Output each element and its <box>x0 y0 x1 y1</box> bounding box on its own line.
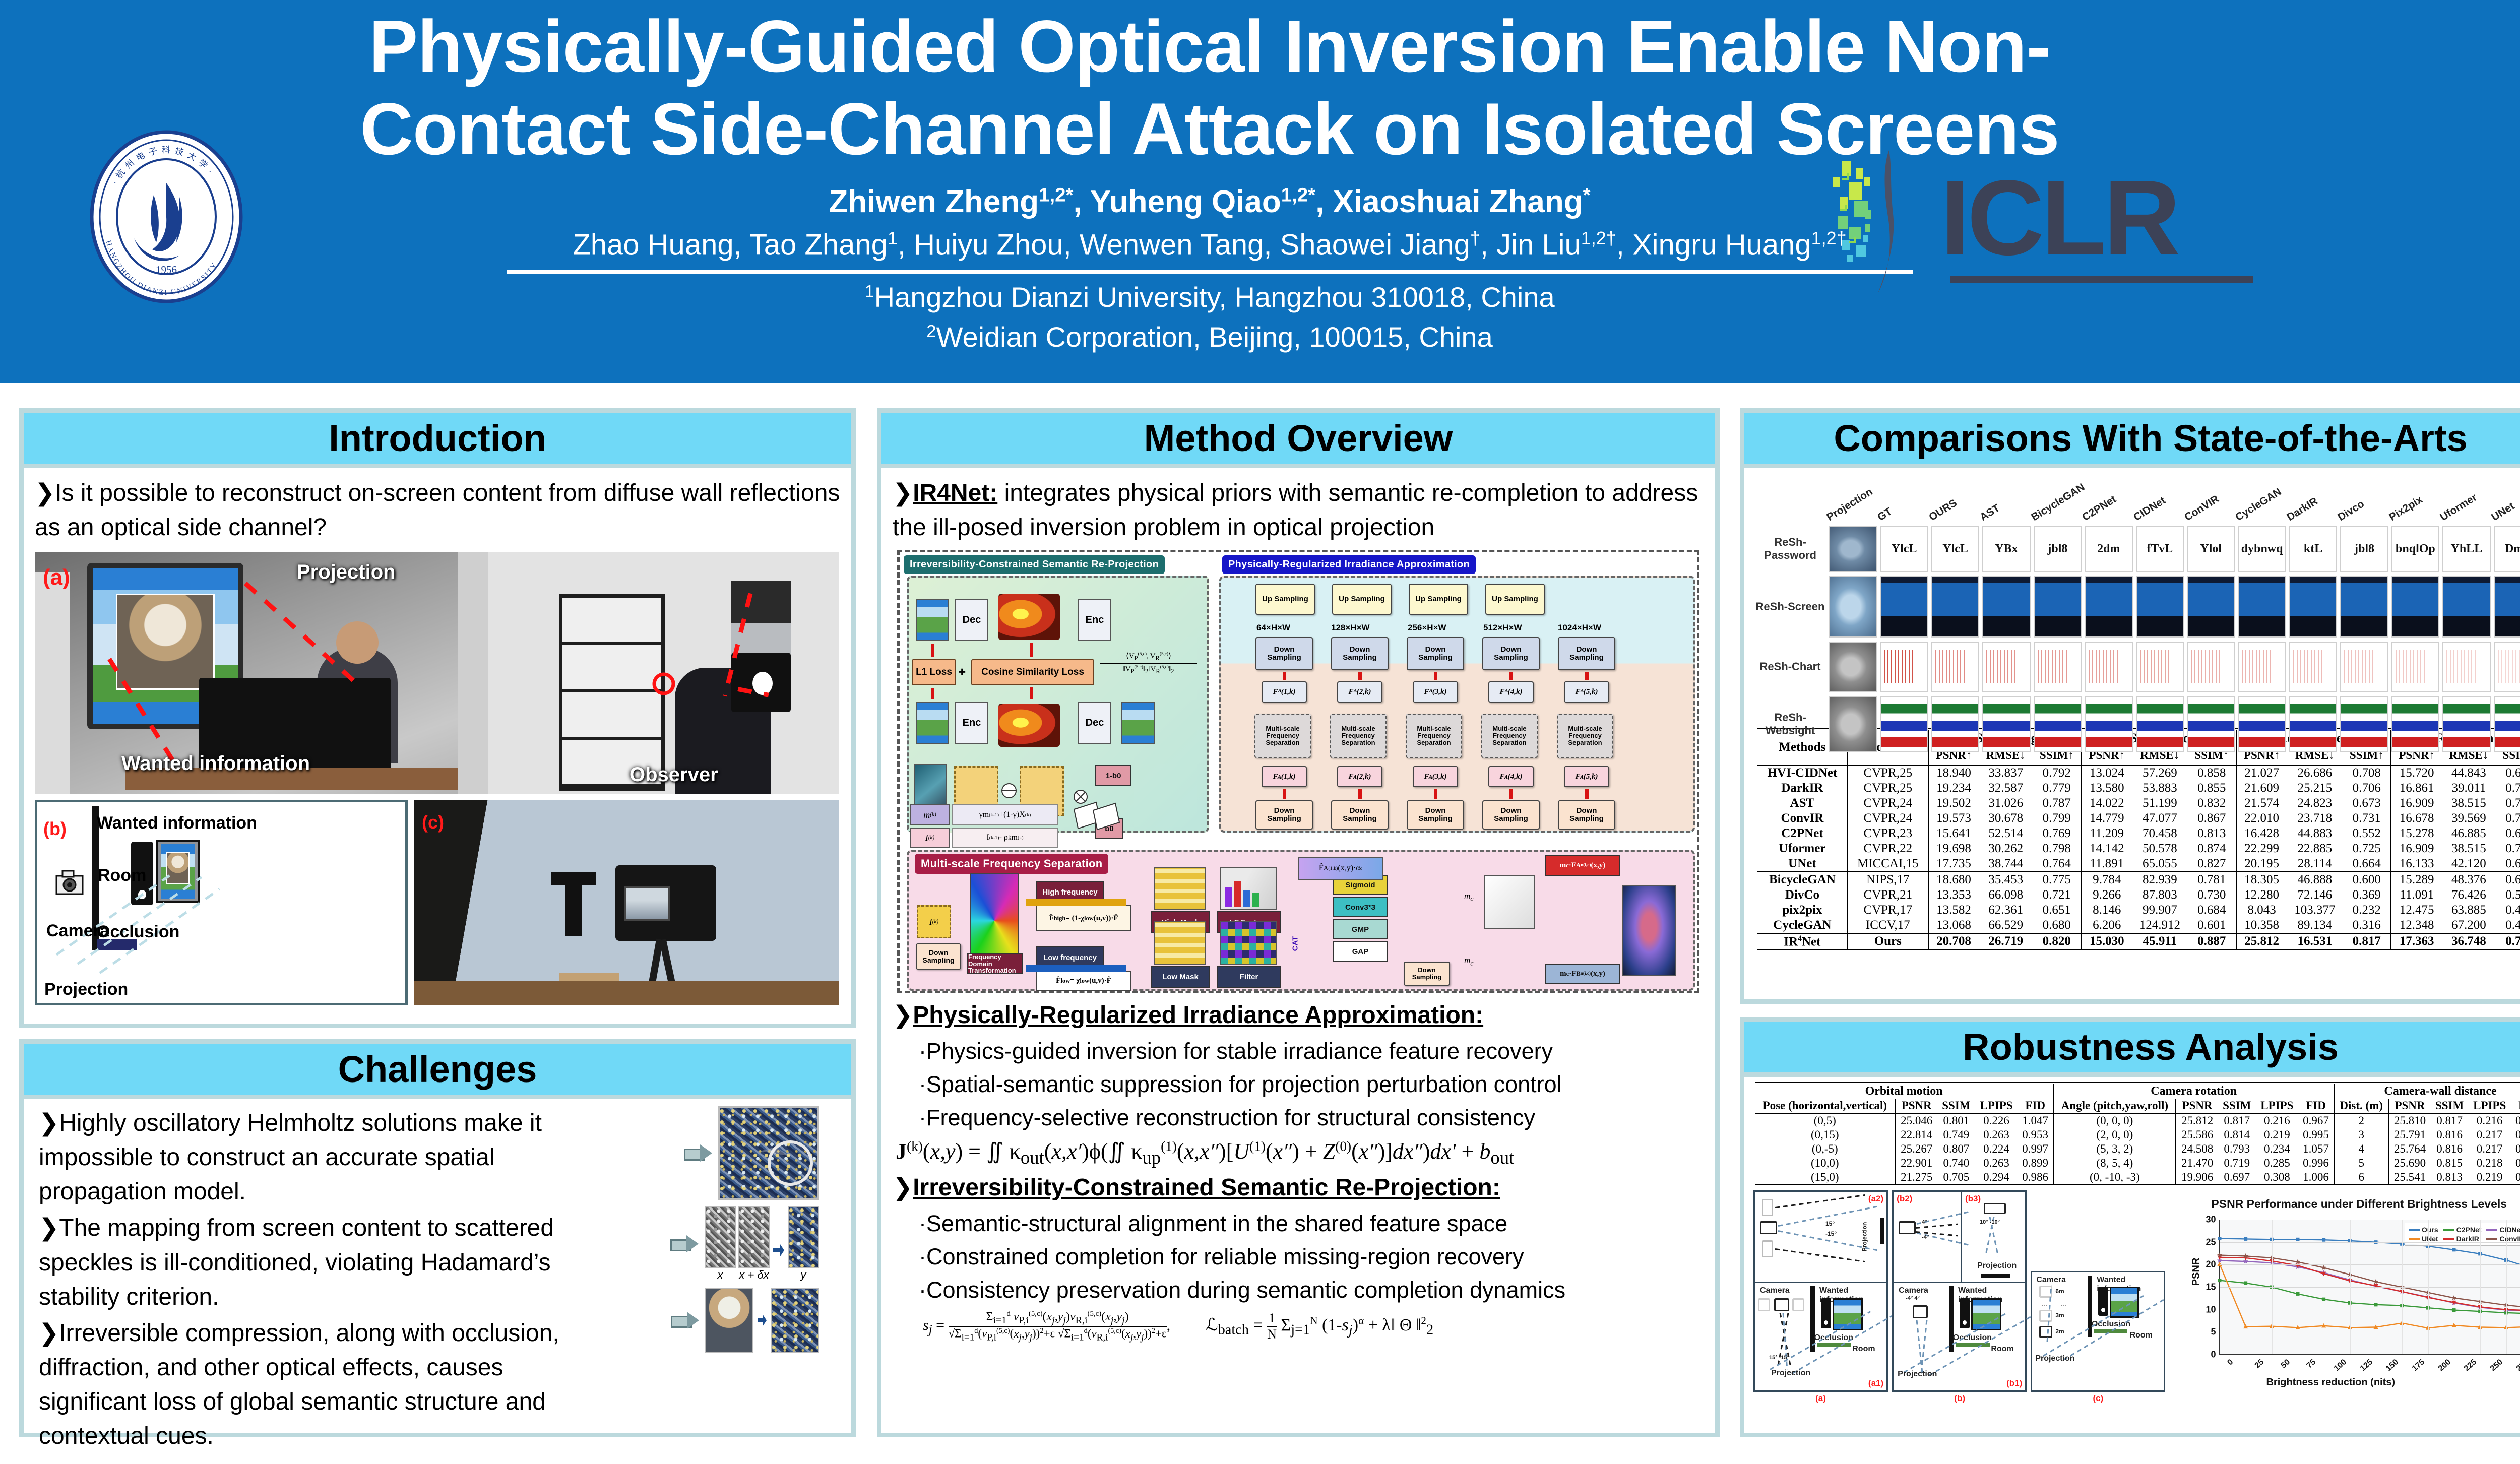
table-cell-value: 8.146 <box>2081 903 2132 918</box>
comparison-cell: YlcL <box>1880 526 1928 572</box>
feature-fa-2: Fᴀ(2,k) <box>1337 766 1382 787</box>
comparison-cell <box>1880 576 1928 638</box>
comparison-col-header: UNet <box>2489 500 2516 524</box>
rob-angle-b2: -4° <box>1922 1234 1929 1240</box>
table-cell: 0.234 <box>2256 1142 2298 1156</box>
comparison-cell <box>1829 696 1877 752</box>
table-cell-value: 15.720 <box>2391 765 2442 781</box>
label-wanted-b: Wanted information <box>97 813 257 833</box>
table-cell-value: 30.262 <box>1979 841 2033 856</box>
table-cell: 0.997 <box>2018 1142 2053 1156</box>
table-cell-value: 0.369 <box>2343 887 2391 903</box>
table-cell-value: 23.718 <box>2287 811 2343 826</box>
msfs-block-1: Multi-scale Frequency Separation <box>1254 714 1311 758</box>
table-cell-value: 0.651 <box>2033 903 2081 918</box>
table-cell-value: 11.891 <box>2081 856 2132 872</box>
table-cell-value: 16.909 <box>2391 796 2442 811</box>
label-occlusion-b: Occlusion <box>97 922 179 942</box>
down-sampling-b5: Down Sampling <box>1558 637 1615 670</box>
challenge-bullet-1: ❯Highly oscillatory Helmholtz solutions … <box>39 1106 579 1209</box>
chart-xtick: 150 <box>2384 1358 2401 1373</box>
chart-legend-item: C2PNet <box>2443 1226 2482 1234</box>
table-cell: 0.705 <box>1937 1170 1975 1185</box>
label-observer-a: Observer <box>629 763 718 786</box>
comparison-cell <box>1829 642 1877 692</box>
rob-subtag-b1: (b1) <box>2006 1378 2022 1388</box>
method-equation-s: sj = Σi=1d vP,i(5,c)(xj,yj)vR,i(5,c)(xj,… <box>923 1310 1170 1344</box>
challenge-caption-xdx: x + δx <box>738 1268 770 1282</box>
page-title: Physically-Guided Optical Inversion Enab… <box>302 5 2117 170</box>
output-heat <box>1622 885 1676 976</box>
gmp-block: GMP <box>1333 919 1388 939</box>
table-cell-value: 11.209 <box>2081 826 2132 841</box>
down-sampling-b4: Down Sampling <box>1482 637 1540 670</box>
table-cell: (0,5) <box>1755 1113 1896 1128</box>
rob-tag-a: (a) <box>1815 1393 1826 1404</box>
loss-cosine: Cosine Similarity Loss <box>971 659 1094 685</box>
table-cell-value: 0.682 <box>2496 856 2520 872</box>
comparison-cell: Ylol <box>2187 526 2235 572</box>
feature-fb-2: Fᴬ(2,k) <box>1337 681 1382 703</box>
table-cell: 25.046 <box>1896 1113 1937 1128</box>
chart-xtick: 50 <box>2279 1358 2292 1370</box>
table-cell: 0.219 <box>2468 1170 2510 1185</box>
table-cell: 0.224 <box>1975 1142 2018 1156</box>
observer-phone-capture <box>731 653 791 712</box>
comparison-col-header: CycleGAN <box>2234 486 2284 524</box>
divider <box>507 270 1913 274</box>
rob-angles-b4: -4° 4° <box>1906 1295 1920 1301</box>
th-rob-group-2: Camera rotation <box>2053 1083 2334 1099</box>
table-cell-value: 0.709 <box>2496 781 2520 796</box>
icsr-output-thumb <box>1121 702 1155 744</box>
figure-panel-b: (b) Wanted information Room Camera Occlu… <box>35 800 408 1005</box>
table-cell-value: 52.514 <box>1979 826 2033 841</box>
table-cell: (0,15) <box>1755 1128 1896 1142</box>
comparison-cell <box>2289 642 2337 692</box>
figure-tag-c: (c) <box>422 812 444 833</box>
loss-plus: + <box>958 664 966 680</box>
dim-3: 256×H×W <box>1408 623 1446 633</box>
arrow-right-icon <box>671 1312 700 1329</box>
table-cell-method: HVI-CIDNet <box>1757 765 1848 781</box>
table-cell-value: 36.748 <box>2442 933 2496 950</box>
chart-gridline-v <box>2220 1220 2220 1354</box>
msfs-block-3: Multi-scale Frequency Separation <box>1406 714 1462 758</box>
comparison-cell <box>2494 642 2520 692</box>
robustness-metric-header: PSNR <box>2388 1099 2430 1113</box>
feature-fa-4: Fᴀ(4,k) <box>1488 766 1534 787</box>
table-cell-value: 32.587 <box>1979 781 2033 796</box>
panel-body-challenges: ❯Highly oscillatory Helmholtz solutions … <box>24 1099 851 1464</box>
table-cell-source: CVPR,17 <box>1848 903 1928 918</box>
robustness-diagram-c: Camera Wanted information 6m ··· ··· 3m … <box>2031 1271 2165 1392</box>
comparison-cell: YlcL <box>1931 526 1979 572</box>
table-cell: (0, -10, -3) <box>2053 1170 2176 1185</box>
panel-body-comparisons: ProjectionGTOURSASTBicycleGANC2PNetCIDNe… <box>1744 468 2520 954</box>
method-lead-bold: IR4Net: <box>913 480 997 506</box>
chart-xtick: 250 <box>2489 1358 2505 1373</box>
table-cell-value: 13.580 <box>2081 781 2132 796</box>
chevron-right-icon: ❯ <box>35 480 55 506</box>
filter-label: Filter <box>1217 966 1281 988</box>
comparison-col-header: Divco <box>2336 498 2367 524</box>
table-cell: 19.906 <box>2176 1170 2218 1185</box>
table-cell-value: 35.453 <box>1979 872 2033 887</box>
panel-header-method: Method Overview <box>881 413 1715 468</box>
table-cell-value: 62.361 <box>1979 903 2033 918</box>
panel-header-robustness: Robustness Analysis <box>1744 1022 2520 1077</box>
table-cell-value: 0.764 <box>2033 856 2081 872</box>
table-cell-value: 0.692 <box>2496 765 2520 781</box>
robustness-metric-header: LPIPS <box>2256 1099 2298 1113</box>
module-label-msfs: Multi-scale Frequency Separation <box>915 854 1108 874</box>
comparison-row-label: ReSh-Screen <box>1753 576 1827 638</box>
table-cell-value: 0.725 <box>2343 841 2391 856</box>
comparison-cell <box>2136 642 2184 692</box>
table-cell: 0.216 <box>2468 1113 2510 1128</box>
iclr-underline <box>1950 276 2253 283</box>
table-cell: 25.541 <box>2388 1170 2430 1185</box>
table-cell-value: 38.744 <box>1979 856 2033 872</box>
table-cell: (8, 5, 4) <box>2053 1156 2176 1170</box>
robustness-diagram-a: (a2) 15° -15° Projection <box>1753 1190 1888 1392</box>
comparison-cell <box>2391 696 2439 752</box>
table-cell: 0.749 <box>1937 1128 1975 1142</box>
down-sampling-o3: Down Sampling <box>1407 800 1464 830</box>
table-cell-value: 70.458 <box>2132 826 2188 841</box>
table-cell-method: IR4Net <box>1757 933 1848 950</box>
table-cell: 0.967 <box>2298 1113 2334 1128</box>
table-cell-value: 13.582 <box>1928 903 1979 918</box>
table-cell-value: 21.609 <box>2236 781 2287 796</box>
table-cell: (0, 0, 0) <box>2053 1113 2176 1128</box>
chart-gridline <box>2220 1287 2520 1288</box>
comparison-cell <box>2442 696 2490 752</box>
rob-dist-3m: 3m <box>2055 1312 2064 1319</box>
feature-fa-5: Fᴀ(5,k) <box>1564 766 1609 787</box>
table-cell: 0.226 <box>1975 1113 2018 1128</box>
chart-xtick: 25 <box>2253 1358 2266 1370</box>
robustness-table-body: (0,5)25.0460.8010.2261.047(0, 0, 0)25.81… <box>1755 1113 2520 1185</box>
th-rob-group-1: Orbital motion <box>1755 1083 2053 1099</box>
chart-xtick: 200 <box>2437 1358 2453 1373</box>
robustness-metric-header: PSNR <box>1896 1099 1937 1113</box>
table-cell-value: 0.721 <box>2033 887 2081 903</box>
method-equation-loss: ℒbatch = 1N Σj=1N (1-sj)α + λ‖ Θ ‖22 <box>1206 1311 1433 1342</box>
challenge-thumb-3 <box>671 1288 819 1353</box>
camera-icon <box>54 867 85 898</box>
comparison-cell <box>1931 696 1979 752</box>
table-cell-value: 46.885 <box>2442 826 2496 841</box>
table-cell-value: 30.678 <box>1979 811 2033 826</box>
table-cell-source: CVPR,23 <box>1848 826 1928 841</box>
chart-legend-item: DarkIR <box>2443 1235 2482 1243</box>
table-cell-value: 50.578 <box>2132 841 2188 856</box>
table-cell: 0.793 <box>2218 1142 2256 1156</box>
logo-year: 1956 <box>156 264 177 276</box>
rob-proj-label-c: Projection <box>2035 1354 2074 1363</box>
fa-alpha-eq: F̂A(1,k)(x,y)·αc <box>1298 857 1383 880</box>
table-cell-value: 39.011 <box>2442 781 2496 796</box>
chart-series-line <box>2220 1264 2520 1328</box>
comparison-cell <box>2136 696 2184 752</box>
legend-label: C2PNet <box>2456 1226 2482 1234</box>
table-cell: 0.980 <box>2511 1156 2520 1170</box>
chart-series-line <box>2220 1255 2520 1308</box>
table-cell-value: 0.664 <box>2343 856 2391 872</box>
table-cell-value: 16.861 <box>2391 781 2442 796</box>
table-cell: 0.815 <box>2431 1156 2469 1170</box>
chart-gridline <box>2220 1310 2520 1310</box>
comparison-col-header: DarkIR <box>2285 495 2320 524</box>
table-cell: 0.219 <box>2256 1128 2298 1142</box>
rob-cam-label-a: Camera <box>1760 1286 1790 1295</box>
legend-swatch <box>2409 1229 2420 1231</box>
conv-block: Conv3*3 <box>1333 897 1388 917</box>
table-cell-value: 57.269 <box>2132 765 2188 781</box>
table-cell: 0.816 <box>2431 1142 2469 1156</box>
table-cell: 0.996 <box>2298 1156 2334 1170</box>
panel-method-overview: Method Overview ❯IR4Net: integrates phys… <box>877 408 1720 1437</box>
label-room-b: Room <box>98 866 146 885</box>
robustness-metric-header: FID <box>2298 1099 2334 1113</box>
table-cell: (15,0) <box>1755 1170 1896 1185</box>
table-cell-value: 87.803 <box>2132 887 2188 903</box>
table-cell-value: 0.817 <box>2343 933 2391 950</box>
table-cell: 25.267 <box>1896 1142 1937 1156</box>
table-cell-value: 0.787 <box>2033 796 2081 811</box>
comparison-column-headers: ProjectionGTOURSASTBicycleGANC2PNetCIDNe… <box>1828 475 2520 524</box>
low-mask-label: Low Mask <box>1151 966 1210 988</box>
legend-label: CIDNet <box>2499 1226 2520 1234</box>
table-cell-value: 103.377 <box>2287 903 2343 918</box>
table-cell-method: C2PNet <box>1757 826 1848 841</box>
chart-gridline-v <box>2298 1220 2298 1354</box>
chart-gridline <box>2220 1242 2520 1243</box>
chart-gridline-v <box>2376 1220 2376 1354</box>
architecture-diagram: Irreversibility-Constrained Semantic Re-… <box>897 550 1699 993</box>
comparison-cell <box>2187 696 2235 752</box>
comparison-table-body: HVI-CIDNetCVPR,2518.94033.8370.79213.024… <box>1757 765 2520 950</box>
rob-proj-label-b2: Projection <box>1898 1370 1937 1379</box>
table-cell-value: 63.885 <box>2442 903 2496 918</box>
arrow-right-icon <box>670 1235 700 1252</box>
comparison-cell <box>2442 576 2490 638</box>
chart-xtick: 75 <box>2305 1358 2318 1370</box>
challenge-bullets: ❯Highly oscillatory Helmholtz solutions … <box>35 1106 579 1456</box>
table-cell-value: 17.363 <box>2391 933 2442 950</box>
table-cell-value: 24.823 <box>2287 796 2343 811</box>
chevron-right-icon: ❯ <box>39 1320 59 1347</box>
comparison-row-label: ReSh-Chart <box>1753 642 1827 692</box>
challenge-bullet-3: ❯Irreversible compression, along with oc… <box>39 1316 579 1454</box>
feature-fa-1: Fᴀ(1,k) <box>1262 766 1307 787</box>
rob-angles-b3: 10° -10° <box>1980 1219 2000 1225</box>
mc-sym-2: mc <box>1464 956 1474 968</box>
robustness-key-header: Angle (pitch,yaw,roll) <box>2053 1099 2176 1113</box>
table-cell: 25.764 <box>2388 1142 2430 1156</box>
table-cell: 25.791 <box>2388 1128 2430 1142</box>
high-mask-grid <box>1154 867 1206 910</box>
table-cell-value: 16.678 <box>2391 811 2442 826</box>
table-cell-value: 45.911 <box>2132 933 2188 950</box>
table-cell-value: 66.098 <box>1979 887 2033 903</box>
table-row: (10,0)22.9010.7400.2630.899(8, 5, 4)21.4… <box>1755 1156 2520 1170</box>
robustness-table: Orbital motion Camera rotation Camera-wa… <box>1755 1082 2520 1186</box>
table-cell-method: UNet <box>1757 856 1848 872</box>
comparison-cell <box>1982 696 2030 752</box>
chart-title: PSNR Performance under Different Brightn… <box>2170 1190 2520 1211</box>
table-cell-value: 0.316 <box>2343 918 2391 933</box>
table-cell-value: 21.027 <box>2236 765 2287 781</box>
panel-challenges: Challenges ❯Highly oscillatory Helmholtz… <box>19 1039 856 1437</box>
comparison-cell <box>2391 642 2439 692</box>
table-cell: 0.719 <box>2218 1156 2256 1170</box>
legend-swatch <box>2409 1238 2420 1240</box>
panel-body-method: ❯IR4Net: integrates physical priors with… <box>881 468 1715 1352</box>
msfs-down-sampling: Down Sampling <box>916 943 961 970</box>
rob-angles-a3: 15° -15° <box>1769 1355 1789 1361</box>
msfs-input-ik: I(k) <box>917 905 951 938</box>
table-cell-value: 0.874 <box>2188 841 2236 856</box>
dim-4: 512×H×W <box>1483 623 1522 633</box>
m-k-box: m(k) <box>910 804 950 825</box>
robustness-key-header: Dist. (m) <box>2334 1099 2388 1113</box>
table-cell: 25.812 <box>2176 1113 2218 1128</box>
table-cell-source: Ours <box>1848 933 1928 950</box>
table-cell: 0.740 <box>1937 1156 1975 1170</box>
method-equation-j: J(k)(x,y) = ∬ κout(x,x′)ϕ(∬ κup(1)(x,x″)… <box>896 1138 1704 1168</box>
low-freq-equation: F̂low = χlow(u,v)·F̂ <box>1036 971 1131 991</box>
panel-title-comparisons: Comparisons With State-of-the-Arts <box>1834 417 2467 460</box>
down-sampling-o5: Down Sampling <box>1558 800 1615 830</box>
chart-legend-item: ConvIR <box>2486 1235 2520 1243</box>
cosine-formula: ⟨VP(5,c), VR(5,c)⟩ ‖VP(5,c)‖2‖VR(5,c)‖2 <box>1100 651 1197 675</box>
table-row: (0,-5)25.2670.8070.2240.997(5, 3, 2)24.5… <box>1755 1142 2520 1156</box>
chart-gridline-v <box>2324 1220 2324 1354</box>
chart-xtick: 0 <box>2226 1358 2236 1367</box>
table-cell-value: 0.867 <box>2188 811 2236 826</box>
table-cell-value: 18.305 <box>2236 872 2287 887</box>
table-cell: 0.899 <box>2018 1156 2053 1170</box>
affiliation-2: 2Weidian Corporation, Beijing, 100015, C… <box>302 321 2117 353</box>
low-mask-grid <box>1154 921 1206 965</box>
table-row: DivCoCVPR,2113.35366.0980.7219.26687.803… <box>1757 887 2520 903</box>
arrow-right-icon <box>684 1144 713 1162</box>
table-row: C2PNetCVPR,2315.64152.5140.76911.20970.4… <box>1757 826 2520 841</box>
rob-subtag-a1: (a1) <box>1868 1378 1883 1388</box>
table-cell-value: 0.707 <box>2496 811 2520 826</box>
mc-fb-out: mc·FBn(i,c)(x,y) <box>1545 964 1620 984</box>
table-cell-value: 9.266 <box>2081 887 2132 903</box>
table-row: ConvIRCVPR,2419.57330.6780.79914.77947.0… <box>1757 811 2520 826</box>
rob-tag-b: (b) <box>1954 1393 1965 1404</box>
robustness-metric-header: SSIM <box>2431 1099 2469 1113</box>
robustness-metric-header: LPIPS <box>2468 1099 2510 1113</box>
iclr-logo: ICLR <box>1789 146 2293 297</box>
chart-gridline-v <box>2506 1220 2507 1354</box>
comparison-cell <box>2289 696 2337 752</box>
table-cell-value: 0.798 <box>2033 841 2081 856</box>
table-cell-value: 16.909 <box>2391 841 2442 856</box>
table-cell-value: 8.043 <box>2236 903 2287 918</box>
label-wanted-a: Wanted information <box>121 752 310 775</box>
table-cell: 0.263 <box>1975 1156 2018 1170</box>
chart-ytick: 30 <box>2206 1215 2220 1225</box>
comparison-col-header: ConVIR <box>2182 493 2221 524</box>
robustness-metric-row: Pose (horizontal,vertical)PSNRSSIMLPIPSF… <box>1755 1099 2520 1113</box>
comparison-cell <box>2494 576 2520 638</box>
chevron-right-icon: ❯ <box>893 1002 913 1029</box>
chevron-right-icon: ❯ <box>39 1215 59 1241</box>
rob-room-label-b: Room <box>1991 1345 2013 1354</box>
table-cell-value: 0.730 <box>2188 887 2236 903</box>
chart-gridline-v <box>2428 1220 2429 1354</box>
rob-cam-label-b: Camera <box>1899 1286 1928 1295</box>
comparison-cell: ktL <box>2289 526 2337 572</box>
table-cell: (2, 0, 0) <box>2053 1128 2176 1142</box>
table-cell-value: 25.215 <box>2287 781 2343 796</box>
table-cell-value: 12.348 <box>2391 918 2442 933</box>
method-section1-point-1: ·Physics-guided inversion for stable irr… <box>893 1035 1704 1068</box>
rob-angle-b1: 4° <box>1922 1219 1927 1225</box>
chart-gridline-v <box>2246 1220 2246 1354</box>
comparison-cell <box>1931 576 1979 638</box>
table-cell-value: 0.232 <box>2343 903 2391 918</box>
table-row: pix2pixCVPR,1713.58262.3610.6518.14699.9… <box>1757 903 2520 918</box>
fdt-label: Frequency Domain Transformation <box>967 953 1023 974</box>
chart-gridline <box>2220 1355 2520 1355</box>
table-cell-value: 0.601 <box>2188 918 2236 933</box>
table-cell-value: 0.632 <box>2496 872 2520 887</box>
comparison-cell: dybnwq <box>2238 526 2286 572</box>
comparison-cell: bnqlOp <box>2391 526 2439 572</box>
chart-ytick: 0 <box>2211 1350 2220 1360</box>
down-sampling-b2: Down Sampling <box>1331 637 1389 670</box>
table-cell: 22.901 <box>1896 1156 1937 1170</box>
table-cell-value: 26.719 <box>1979 933 2033 950</box>
table-cell-value: 0.673 <box>2343 796 2391 811</box>
quantitative-comparison-table: Methods Source ReSh-WebSight ReSh-Passwo… <box>1757 728 2520 951</box>
table-cell-value: 65.055 <box>2132 856 2188 872</box>
panel-header-comparisons: Comparisons With State-of-the-Arts <box>1744 413 2520 468</box>
challenge-thumb-2: x x + δx y <box>670 1206 819 1282</box>
challenge-thumbnails: x x + δx y <box>579 1106 821 1456</box>
university-logo: 1956 · 杭 州 电 子 科 技 大 学 · HANGZHOU DIANZI… <box>86 129 247 305</box>
comparison-cell <box>1880 696 1928 752</box>
table-cell-value: 15.289 <box>2391 872 2442 887</box>
table-cell-source: NIPS,17 <box>1848 872 1928 887</box>
robustness-bottom-row: (a2) 15° -15° Projection <box>1749 1190 2520 1392</box>
table-cell: 22.814 <box>1896 1128 1937 1142</box>
table-cell-source: CVPR,25 <box>1848 765 1928 781</box>
comparison-cell: fTvL <box>2136 526 2184 572</box>
table-cell: 5 <box>2334 1156 2388 1170</box>
challenge-thumb-1 <box>684 1106 819 1200</box>
table-cell-value: 0.781 <box>2188 872 2236 887</box>
table-cell: 1.057 <box>2298 1142 2334 1156</box>
table-row: ASTCVPR,2419.50231.0260.78714.02251.1990… <box>1757 796 2520 811</box>
table-row: UNetMICCAI,1517.73538.7440.76411.89165.0… <box>1757 856 2520 872</box>
rob-tag-c: (c) <box>2093 1393 2103 1404</box>
icsr-heatmap-bot <box>998 704 1060 747</box>
table-cell-value: 0.775 <box>2033 872 2081 887</box>
table-cell: 25.810 <box>2388 1113 2430 1128</box>
table-cell-value: 16.133 <box>2391 856 2442 872</box>
comparison-col-header: OURS <box>1927 497 1959 524</box>
chart-xtick: 275 <box>2515 1358 2520 1373</box>
